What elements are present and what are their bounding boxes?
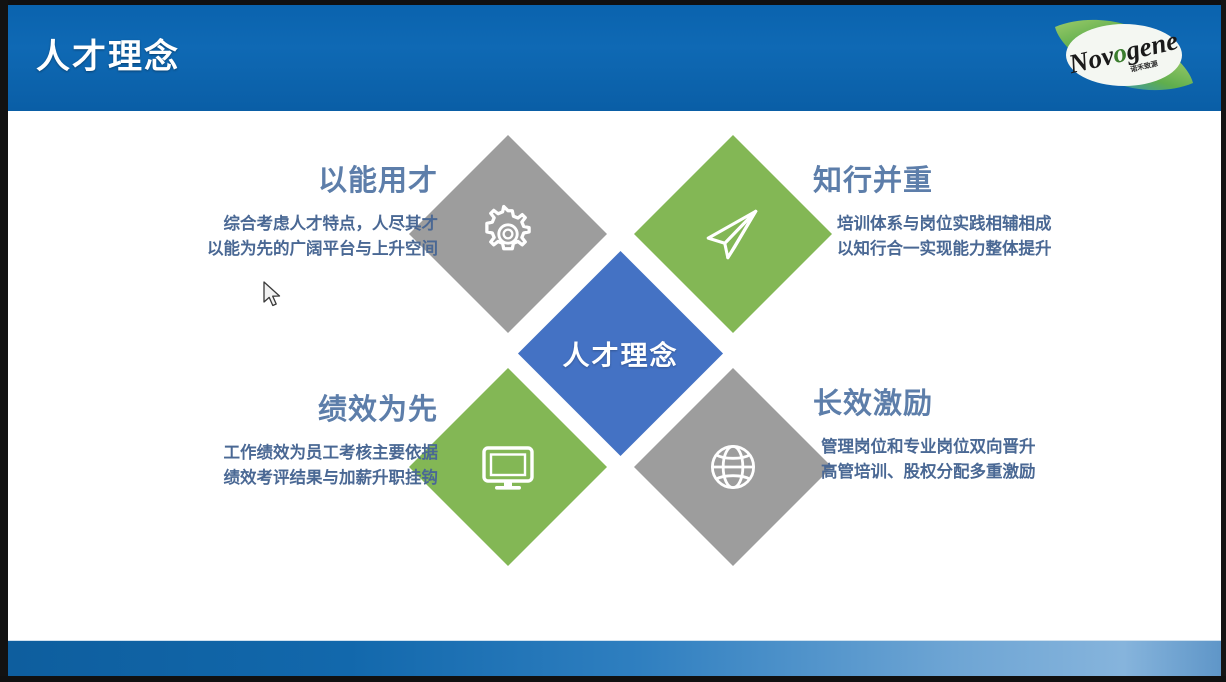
slide-body: 人才理念 以能用才 综合考虑人才特点，人尽其才 以能为先的广阔平台与上升空间 知… (8, 111, 1221, 641)
block-body-bottom-right: 管理岗位和专业岗位双向晋升 高管培训、股权分配多重激励 (813, 435, 1193, 486)
slide-frame-left (0, 0, 8, 682)
block-body-bottom-left: 工作绩效为员工考核主要依据 绩效考评结果与加薪升职挂钩 (68, 441, 438, 492)
block-title-top-left: 以能用才 (68, 166, 438, 198)
globe-icon (703, 437, 763, 497)
block-body-top-right: 培训体系与岗位实践相辅相成 以知行合一实现能力整体提升 (813, 212, 1193, 263)
monitor-icon (476, 435, 540, 499)
novogene-logo: Novogene 诺禾致源 (1049, 11, 1199, 99)
leaf-capsule-logo-icon: Novogene 诺禾致源 (1049, 11, 1199, 99)
block-body-line1: 管理岗位和专业岗位双向晋升 (821, 435, 1193, 461)
center-label: 人才理念 (563, 334, 679, 373)
gear-icon (477, 203, 539, 265)
text-block-bottom-left: 绩效为先 工作绩效为员工考核主要依据 绩效考评结果与加薪升职挂钩 (68, 395, 438, 492)
text-block-top-right: 知行并重 培训体系与岗位实践相辅相成 以知行合一实现能力整体提升 (813, 166, 1193, 263)
presentation-slide: 人才理念 (0, 0, 1226, 682)
slide-frame-right (1221, 0, 1226, 682)
block-title-top-right: 知行并重 (813, 166, 1193, 198)
block-body-line1: 工作绩效为员工考核主要依据 (68, 441, 438, 467)
block-title-bottom-right: 长效激励 (813, 389, 1193, 421)
block-title-bottom-left: 绩效为先 (68, 395, 438, 427)
text-block-top-left: 以能用才 综合考虑人才特点，人尽其才 以能为先的广阔平台与上升空间 (68, 166, 438, 263)
block-body-line2: 高管培训、股权分配多重激励 (821, 460, 1193, 486)
block-body-line1: 培训体系与岗位实践相辅相成 (837, 212, 1193, 238)
diamond-center[interactable]: 人才理念 (518, 251, 723, 456)
slide-footer-bar (8, 640, 1221, 676)
block-body-line2: 以能为先的广阔平台与上升空间 (68, 237, 438, 263)
text-block-bottom-right: 长效激励 管理岗位和专业岗位双向晋升 高管培训、股权分配多重激励 (813, 389, 1193, 486)
block-body-line2: 绩效考评结果与加薪升职挂钩 (68, 466, 438, 492)
block-body-top-left: 综合考虑人才特点，人尽其才 以能为先的广阔平台与上升空间 (68, 212, 438, 263)
block-body-line1: 综合考虑人才特点，人尽其才 (68, 212, 438, 238)
paper-plane-icon (700, 201, 766, 267)
page-title: 人才理念 (36, 29, 180, 78)
slide-frame-bottom (0, 676, 1226, 682)
block-body-line2: 以知行合一实现能力整体提升 (837, 237, 1193, 263)
slide-header: 人才理念 (8, 5, 1221, 111)
